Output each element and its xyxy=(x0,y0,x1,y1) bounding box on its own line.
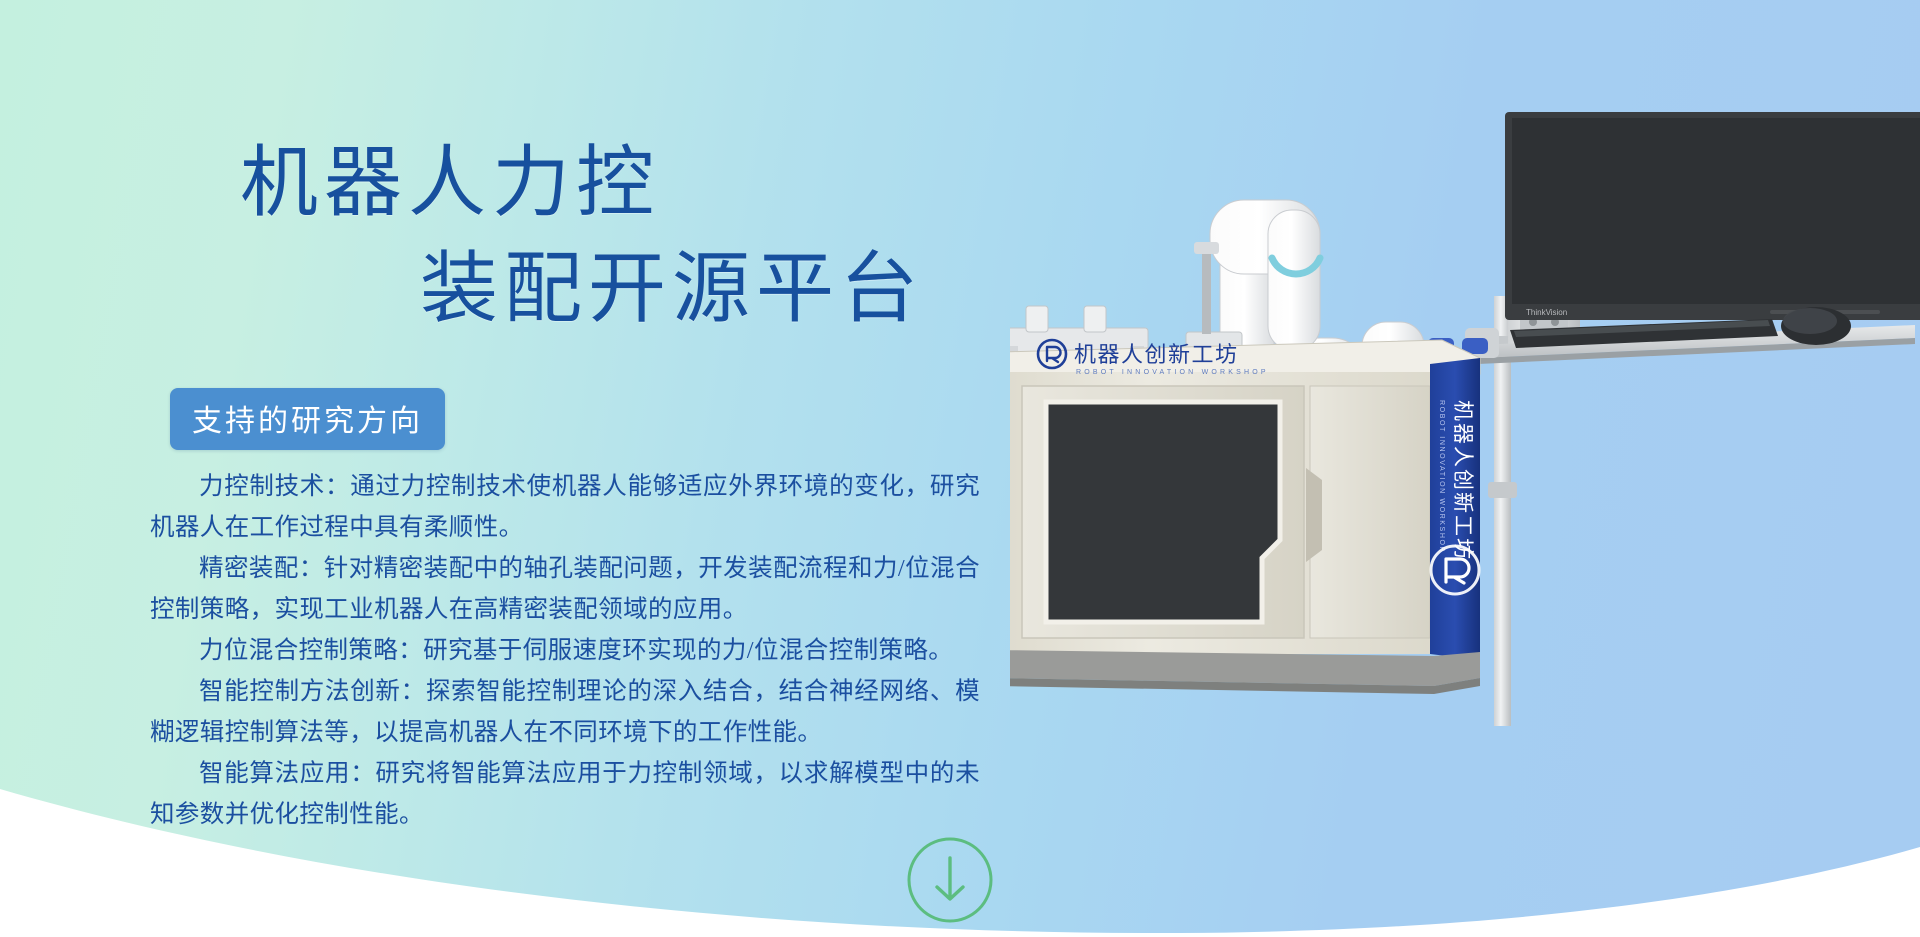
side-panel-brand-cn: 机器人创新工坊 xyxy=(1451,400,1474,561)
svg-text:ThinkVision: ThinkVision xyxy=(1526,308,1567,317)
mouse xyxy=(1781,307,1851,345)
list-item: 智能算法应用：研究将智能算法应用于力控制领域，以求解模型中的未知参数并优化控制性… xyxy=(150,753,980,835)
side-panel-brand-en: ROBOT INNOVATION WORKSHOP xyxy=(1438,400,1445,553)
list-item: 力控制技术：通过力控制技术使机器人能够适应外界环境的变化，研究机器人在工作过程中… xyxy=(150,466,980,548)
brand-logo-cn: 机器人创新工坊 xyxy=(1074,342,1239,367)
hero-banner: 机器人力控 装配开源平台 支持的研究方向 力控制技术：通过力控制技术使机器人能够… xyxy=(0,0,1920,937)
brand-logo-en: ROBOT INNOVATION WORKSHOP xyxy=(1076,369,1269,376)
viewing-window xyxy=(1046,402,1280,622)
page-title: 机器人力控 装配开源平台 xyxy=(0,133,1000,339)
list-item: 力位混合控制策略：研究基于伺服速度环实现的力/位混合控制策略。 xyxy=(150,630,980,671)
research-topics-list: 力控制技术：通过力控制技术使机器人能够适应外界环境的变化，研究机器人在工作过程中… xyxy=(150,466,980,835)
display-monitor: ThinkVision xyxy=(1505,112,1920,353)
headline-line-2: 装配开源平台 xyxy=(0,239,1000,339)
section-badge: 支持的研究方向 xyxy=(170,388,445,450)
list-item: 智能控制方法创新：探索智能控制理论的深入结合，结合神经网络、模糊逻辑控制算法等，… xyxy=(150,671,980,753)
headline-line-1: 机器人力控 xyxy=(0,133,1000,233)
scroll-down-button[interactable] xyxy=(906,836,994,924)
workstation-illustration: ThinkVision xyxy=(1010,100,1920,800)
arrow-down-icon xyxy=(906,836,994,924)
control-cabinet: 机器人创新工坊 ROBOT INNOVATION WORKSHOP xyxy=(1010,340,1480,694)
equipment-photo: ThinkVision xyxy=(1010,100,1920,800)
list-item: 精密装配：针对精密装配中的轴孔装配问题，开发装配流程和力/位混合控制策略，实现工… xyxy=(150,548,980,630)
